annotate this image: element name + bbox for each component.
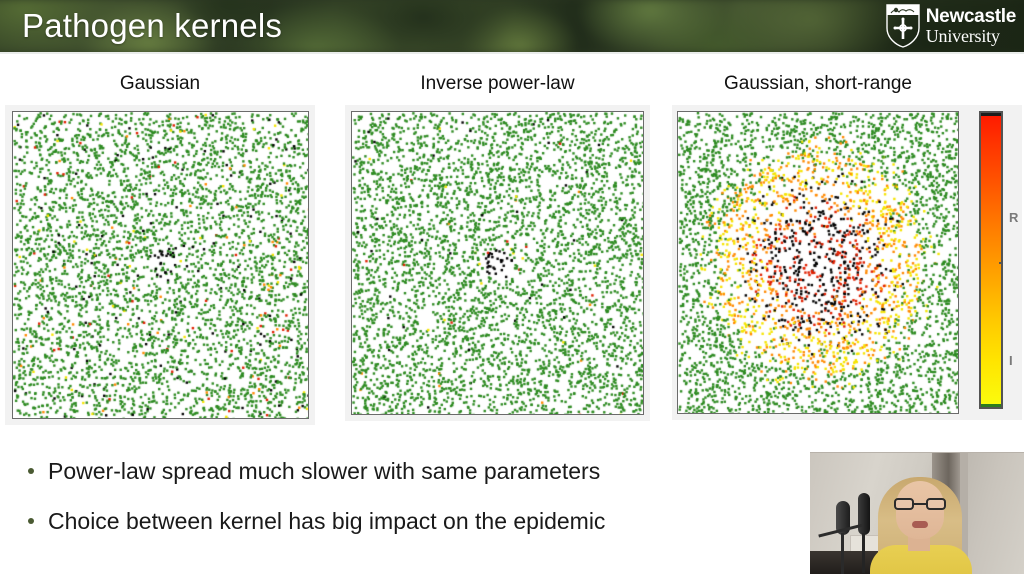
face — [896, 481, 944, 539]
colorbar-gradient-fill — [981, 113, 1001, 407]
panel-title-gaussian: Gaussian — [5, 73, 315, 95]
bullet-dot-icon — [28, 468, 34, 474]
list-item: Choice between kernel has big impact on … — [28, 505, 788, 537]
mouth — [912, 521, 928, 528]
simulation-panel-gaussian — [5, 105, 315, 425]
page-title: Pathogen kernels — [22, 2, 282, 50]
bullet-list: Power-law spread much slower with same p… — [28, 455, 788, 555]
plot-area — [677, 111, 959, 414]
slide: Pathogen kernels Newcastle University Ga… — [0, 0, 1024, 574]
colorbar-cap-top — [981, 113, 1001, 116]
presenter — [872, 471, 968, 574]
glasses-icon — [894, 498, 946, 510]
colorbar-cap-bottom — [981, 404, 1001, 407]
simulation-panel-inverse-power-law — [345, 105, 650, 421]
colorbar-label-infected: I — [1009, 353, 1013, 368]
plot-area — [12, 111, 309, 419]
slide-header: Pathogen kernels Newcastle University — [0, 0, 1024, 52]
bullet-text: Choice between kernel has big impact on … — [48, 505, 605, 537]
simulation-panel-gaussian-short-range — [672, 105, 964, 420]
colorbar-gradient — [979, 111, 1003, 409]
microphone-icon — [858, 493, 870, 535]
newcastle-university-crest-icon — [886, 4, 920, 48]
colorbar: R I S — [964, 105, 1022, 420]
panel-title-inverse-power-law: Inverse power-law — [345, 73, 650, 95]
plot-area — [351, 111, 644, 415]
logo-line-2: University — [926, 27, 1016, 45]
bullet-dot-icon — [28, 518, 34, 524]
bullet-text: Power-law spread much slower with same p… — [48, 455, 600, 487]
header-divider — [0, 52, 1024, 54]
newcastle-university-logo: Newcastle University — [886, 2, 1016, 50]
colorbar-label-removed: R — [1009, 210, 1018, 225]
logo-line-1: Newcastle — [926, 7, 1016, 26]
list-item: Power-law spread much slower with same p… — [28, 455, 788, 487]
presenter-webcam-video[interactable] — [810, 452, 1024, 574]
panel-title-gaussian-short-range: Gaussian, short-range — [672, 73, 964, 95]
colorbar-tick-mid — [999, 262, 1002, 264]
